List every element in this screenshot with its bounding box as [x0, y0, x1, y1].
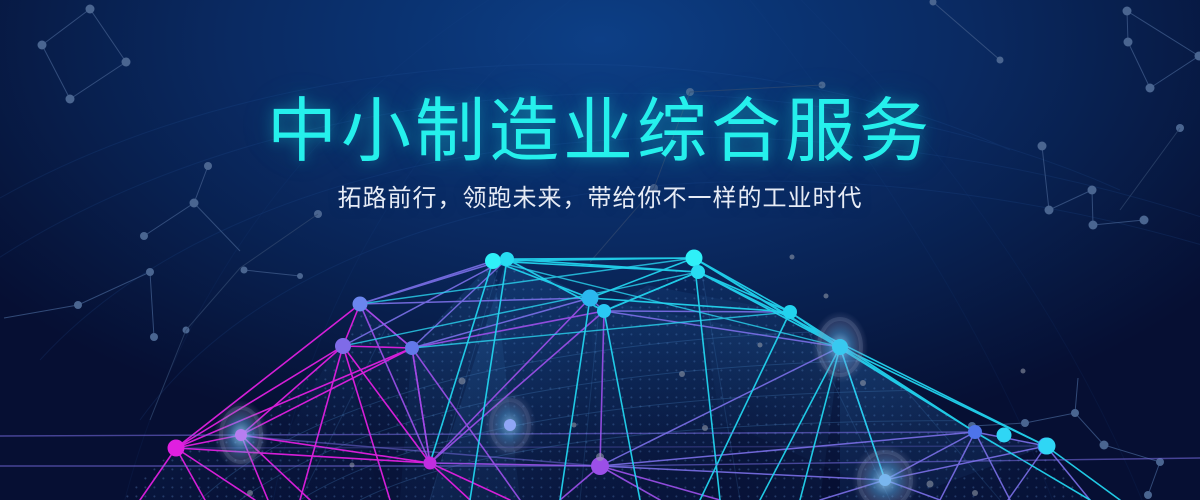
page-subtitle: 拓路前行，领跑未来，带给你不一样的工业时代 — [0, 183, 1200, 213]
hero-banner: 中小制造业综合服务 拓路前行，领跑未来，带给你不一样的工业时代 — [0, 0, 1200, 500]
network-graph — [0, 0, 1200, 500]
page-title: 中小制造业综合服务 — [0, 96, 1200, 167]
node-glow-halos — [214, 311, 918, 500]
network-nodes — [168, 250, 1056, 487]
hero-text-block: 中小制造业综合服务 拓路前行，领跑未来，带给你不一样的工业时代 — [0, 96, 1200, 213]
